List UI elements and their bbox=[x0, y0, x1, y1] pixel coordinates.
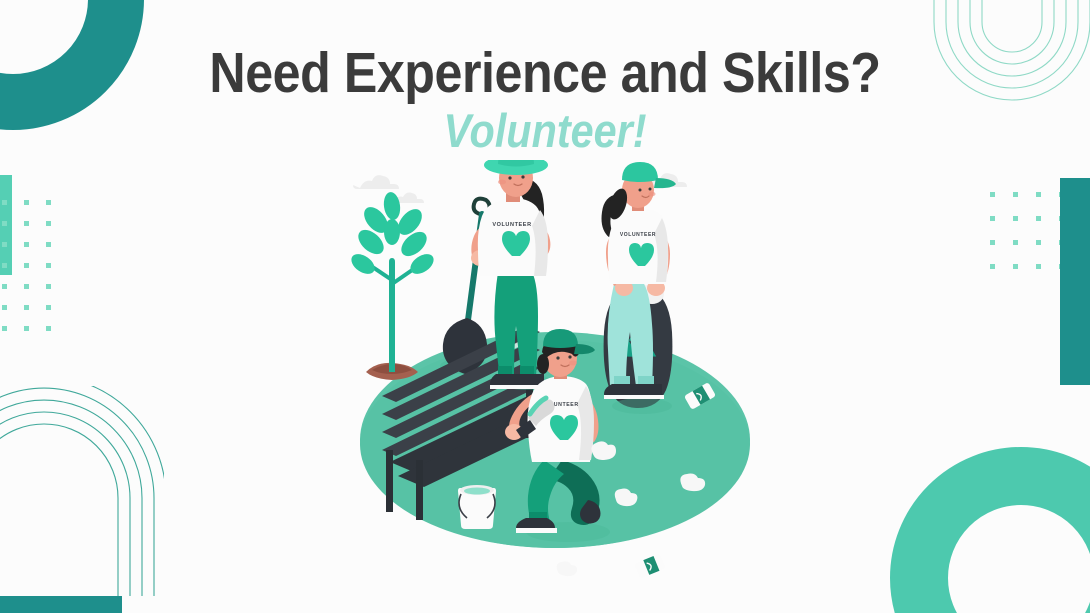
dot-grid-right-decoration bbox=[990, 192, 1082, 288]
volunteer-illustration: VOLUNTEER bbox=[330, 160, 770, 580]
poster-canvas: Need Experience and Skills? Volunteer! bbox=[0, 0, 1090, 613]
ring-bottom-right-decoration bbox=[890, 447, 1090, 613]
page-subtitle: Volunteer! bbox=[65, 106, 1024, 155]
paint-bucket bbox=[458, 485, 496, 529]
sapling-tree bbox=[348, 191, 437, 380]
bar-left-decoration bbox=[0, 175, 12, 275]
headline-block: Need Experience and Skills? Volunteer! bbox=[0, 44, 1090, 155]
bar-right-decoration bbox=[1060, 178, 1090, 385]
dot-grid-left-decoration bbox=[2, 200, 68, 347]
svg-text:VOLUNTEER: VOLUNTEER bbox=[620, 232, 656, 238]
page-title: Need Experience and Skills? bbox=[65, 44, 1024, 102]
sun-hat bbox=[484, 160, 548, 175]
arches-bottom-left-decoration bbox=[0, 386, 164, 596]
bar-bottom-left-decoration bbox=[0, 596, 122, 613]
svg-text:VOLUNTEER: VOLUNTEER bbox=[492, 222, 531, 228]
